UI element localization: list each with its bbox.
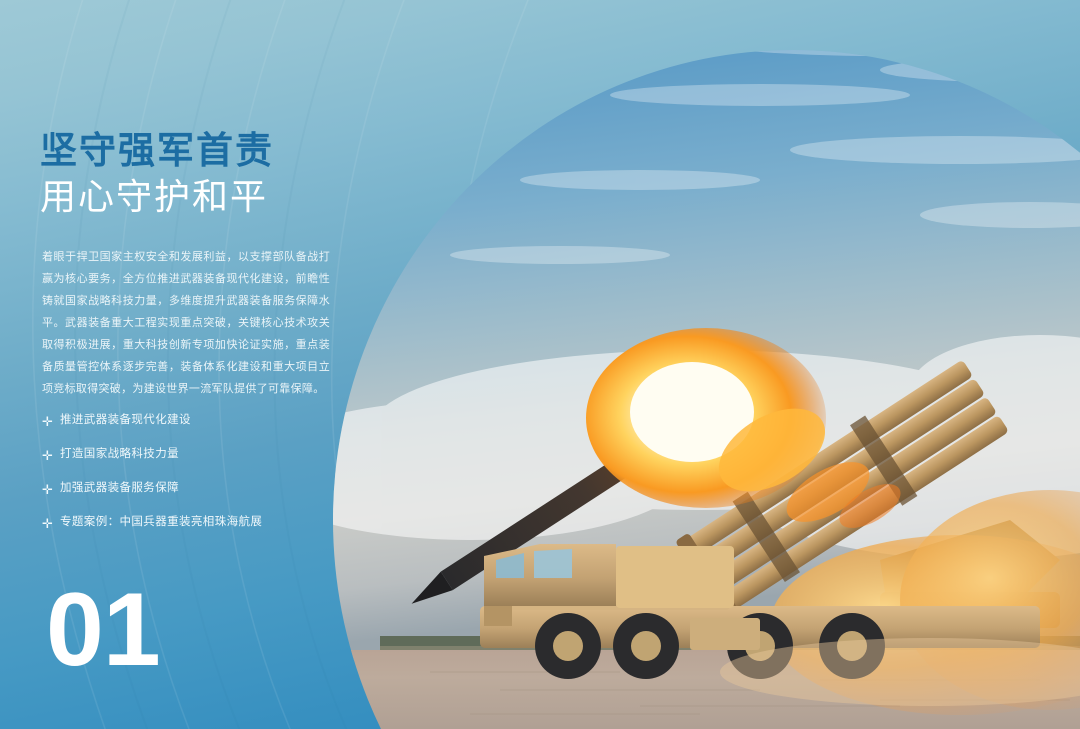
title-line-secondary: 用心守护和平 (40, 174, 340, 221)
chapter-number: 01 (46, 578, 160, 682)
page-title: 坚守强军首责 用心守护和平 (40, 128, 340, 221)
plus-icon: ✛ (42, 517, 60, 530)
bullet-list: ✛ 推进武器装备现代化建设 ✛ 打造国家战略科技力量 ✛ 加强武器装备服务保障 … (42, 408, 332, 544)
list-item-label: 加强武器装备服务保障 (60, 483, 179, 495)
plus-icon: ✛ (42, 483, 60, 496)
list-item-label: 打造国家战略科技力量 (60, 449, 179, 461)
plus-icon: ✛ (42, 415, 60, 428)
list-item[interactable]: ✛ 加强武器装备服务保障 (42, 476, 332, 502)
list-item[interactable]: ✛ 打造国家战略科技力量 (42, 442, 332, 468)
list-item-label: 专题案例：中国兵器重装亮相珠海航展 (60, 517, 262, 529)
list-item[interactable]: ✛ 专题案例：中国兵器重装亮相珠海航展 (42, 510, 332, 536)
title-line-primary: 坚守强军首责 (40, 128, 340, 174)
body-paragraph: 着眼于捍卫国家主权安全和发展利益，以支撑部队备战打赢为核心要务，全方位推进武器装… (42, 246, 330, 400)
text-column: 坚守强军首责 用心守护和平 着眼于捍卫国家主权安全和发展利益，以支撑部队备战打赢… (40, 0, 340, 729)
list-item[interactable]: ✛ 推进武器装备现代化建设 (42, 408, 332, 434)
plus-icon: ✛ (42, 449, 60, 462)
list-item-label: 推进武器装备现代化建设 (60, 415, 191, 427)
chapter-cover-slide: 坚守强军首责 用心守护和平 着眼于捍卫国家主权安全和发展利益，以支撑部队备战打赢… (0, 0, 1080, 729)
cab-window-side (534, 549, 572, 578)
